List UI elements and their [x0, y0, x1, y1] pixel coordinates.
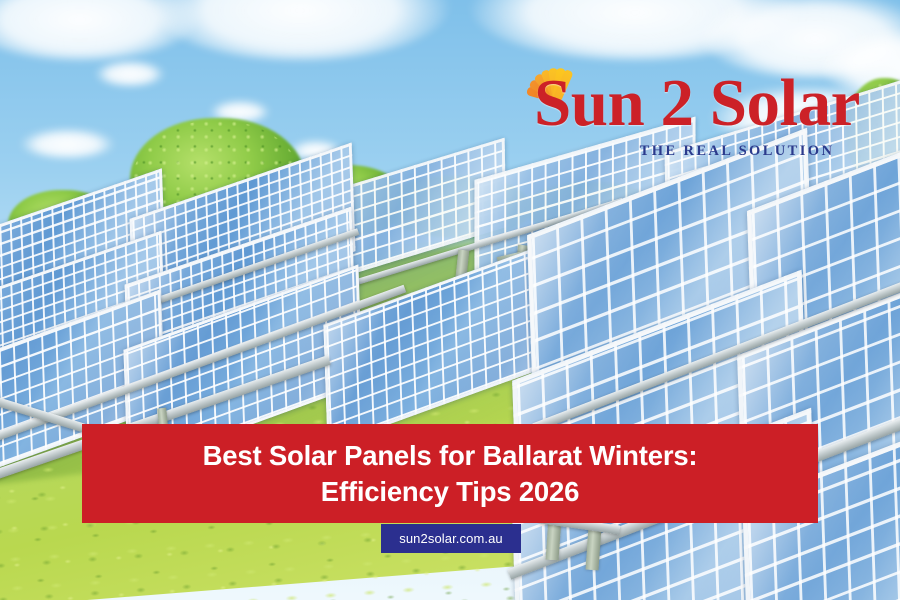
website-url-badge[interactable]: sun2solar.com.au: [381, 524, 521, 553]
brand-logo: Sun 2 Solar THE REAL SOLUTION: [510, 62, 855, 170]
hero-image: Sun 2 Solar THE REAL SOLUTION Best Solar…: [0, 0, 900, 600]
logo-wordmark: Sun 2 Solar: [534, 70, 864, 137]
title-banner: Best Solar Panels for Ballarat Winters: …: [82, 424, 818, 523]
banner-title-line-2: Efficiency Tips 2026: [203, 474, 698, 509]
logo-tagline: THE REAL SOLUTION: [622, 143, 852, 160]
banner-title-line-1: Best Solar Panels for Ballarat Winters:: [203, 438, 698, 473]
banner-title: Best Solar Panels for Ballarat Winters: …: [189, 438, 712, 508]
website-url-text: sun2solar.com.au: [399, 531, 503, 546]
